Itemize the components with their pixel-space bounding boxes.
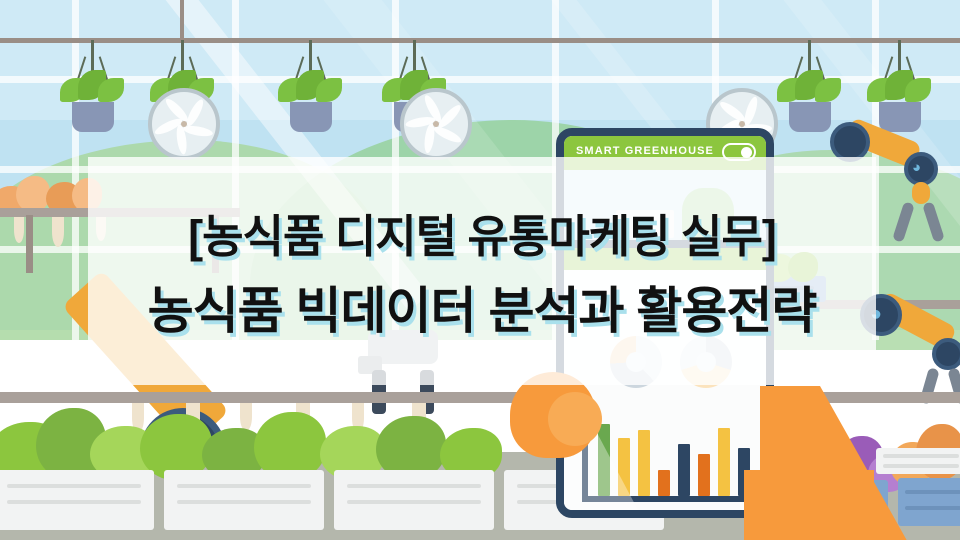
hand-palm [744, 470, 874, 540]
planter-blue [898, 478, 960, 526]
hydroponic-root [240, 403, 252, 431]
ceiling-beam-drop [180, 0, 184, 40]
hydroponic-root [52, 217, 64, 247]
hanging-plant [276, 40, 346, 145]
chart-bar [698, 454, 710, 496]
hanging-plant [58, 40, 128, 145]
title-line-2: 농식품 빅데이터 분석과 활용전략 [148, 271, 817, 343]
planter-white [0, 470, 154, 530]
shelf-leg [26, 215, 33, 273]
planter-white [334, 470, 494, 530]
chart-bar [678, 444, 690, 496]
hand-thumb-tip [548, 392, 602, 446]
hydroponic-root [14, 217, 24, 243]
tablet-header-title: SMART GREENHOUSE [576, 145, 714, 157]
chart-bar [718, 428, 730, 496]
title-panel: [농식품 디지털 유통마케팅 실무] 농식품 빅데이터 분석과 활용전략 [88, 157, 876, 385]
shelf-slats-right [876, 448, 960, 474]
poster-canvas: ◕ ◕ [0, 0, 960, 540]
ventilation-fan [148, 88, 220, 160]
title-line-1: [농식품 디지털 유통마케팅 실무] [188, 200, 776, 265]
planter-white [164, 470, 324, 530]
title-stack: [농식품 디지털 유통마케팅 실무] 농식품 빅데이터 분석과 활용전략 [88, 157, 876, 385]
ventilation-fan [400, 88, 472, 160]
chart-bar [638, 430, 650, 496]
chart-bar [658, 470, 670, 496]
